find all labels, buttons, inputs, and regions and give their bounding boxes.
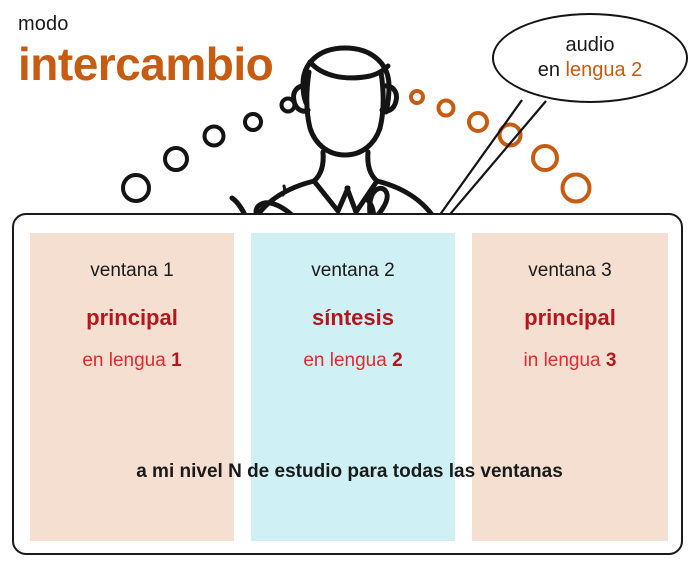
window-panel-2-language: en lengua 2 [251, 349, 455, 373]
window-panel-2[interactable]: ventana 2 síntesis en lengua 2 [251, 233, 455, 541]
thought-bubbles-right-icon [411, 91, 590, 202]
window-panel-2-language-prefix: en lengua [303, 350, 392, 371]
window-panel-1-name: ventana 1 [30, 259, 234, 283]
tick-mark-icon [283, 186, 285, 195]
speech-bubble-line-2-accent: lengua 2 [566, 59, 643, 81]
header-block: modo intercambio [18, 12, 348, 90]
window-panel-1-content: ventana 1 principal en lengua 1 [30, 259, 234, 373]
window-panel-3-language-number: 3 [606, 350, 617, 371]
thought-bubbles-left-icon [123, 99, 295, 202]
windows-container: ventana 1 principal en lengua 1 ventana … [12, 213, 683, 555]
window-panel-1-role: principal [30, 305, 234, 331]
speech-bubble-line-1: audio [566, 33, 615, 58]
speech-bubble: audio en lengua 2 [492, 13, 688, 103]
mode-label: modo [18, 12, 348, 36]
speech-bubble-tail-icon [414, 100, 546, 230]
window-panel-1-language-prefix: en lengua [82, 350, 171, 371]
window-panel-2-language-number: 2 [392, 350, 403, 371]
mode-title: intercambio [18, 38, 348, 90]
window-panel-3-language-prefix: in lengua [524, 350, 606, 371]
window-panel-1-language: en lengua 1 [30, 349, 234, 373]
footer-note: a mi nivel N de estudio para todas las v… [14, 460, 685, 484]
window-panel-3-name: ventana 3 [472, 259, 668, 283]
window-panel-3-role: principal [472, 305, 668, 331]
window-panel-1[interactable]: ventana 1 principal en lengua 1 [30, 233, 234, 541]
window-panel-3-language: in lengua 3 [472, 349, 668, 373]
window-panel-2-role: síntesis [251, 305, 455, 331]
window-panel-1-language-number: 1 [171, 350, 182, 371]
speech-bubble-line-2-prefix: en [538, 59, 566, 81]
speech-bubble-line-2: en lengua 2 [538, 58, 643, 83]
window-panel-2-content: ventana 2 síntesis en lengua 2 [251, 259, 455, 373]
window-panel-2-name: ventana 2 [251, 259, 455, 283]
window-panel-3[interactable]: ventana 3 principal in lengua 3 [472, 233, 668, 541]
window-panel-3-content: ventana 3 principal in lengua 3 [472, 259, 668, 373]
